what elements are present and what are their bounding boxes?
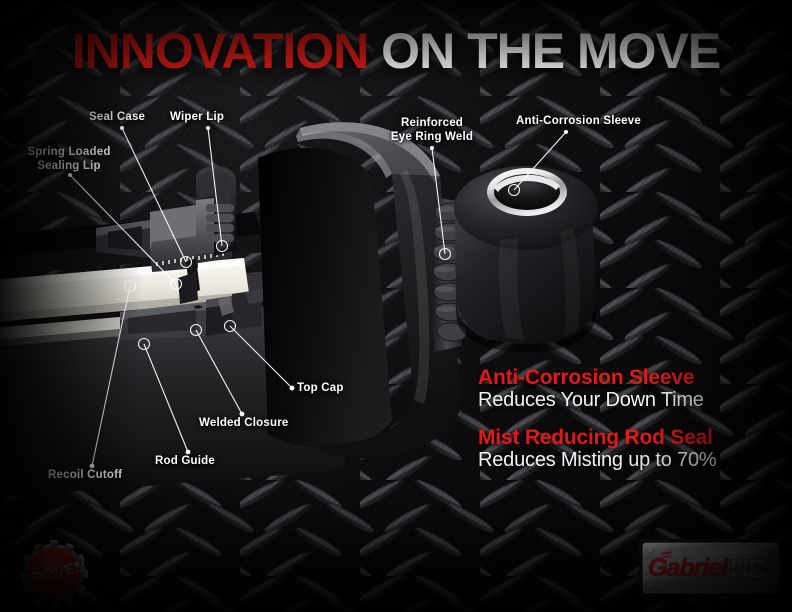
callout-label-anti-corrosion-sleeve: Anti-Corrosion Sleeve [516,114,641,128]
callout-label-spring-loaded-sealing-lip: Spring Loaded Sealing Lip [14,145,124,174]
gabriel-wordmark: Gabriel [648,551,729,582]
callout-line-1: Reinforced [378,116,486,130]
feature-anti-corrosion-sleeve: Anti-Corrosion Sleeve Reduces Your Down … [478,366,704,412]
callout-line-2: Eye Ring Weld [378,130,486,144]
callout-label-rod-guide: Rod Guide [155,454,215,468]
feature-heading: Mist Reducing Rod Seal [478,426,716,449]
callout-label-seal-case: Seal Case [89,110,145,124]
callout-line-2: Sealing Lip [14,159,124,173]
gabriel-hd-logo-plate: Gabriel HD [638,538,784,598]
callout-label-wiper-lip: Wiper Lip [170,110,224,124]
shock-absorber-illustration [0,0,792,612]
feature-subtext: Reduces Misting up to 70% [478,449,716,472]
eye-ring-bushing [454,166,598,352]
poster-canvas: INNOVATION ON THE MOVE [0,0,792,612]
gabriel-text: Gabriel [648,554,729,582]
hd-wordmark: HD [730,554,767,584]
callout-line-1: Spring Loaded [14,145,124,159]
callout-label-reinforced-eye-ring-weld: Reinforced Eye Ring Weld [378,116,486,145]
feature-mist-reducing-rod-seal: Mist Reducing Rod Seal Reduces Misting u… [478,426,716,472]
callout-label-welded-closure: Welded Closure [199,416,289,430]
feature-heading: Anti-Corrosion Sleeve [478,366,704,389]
callout-label-top-cap: Top Cap [297,381,344,395]
proven-badge: PROVEN [14,536,98,608]
hd-text: HD [730,554,767,584]
anti-corrosion-sleeve-cutaway [258,122,462,458]
callout-label-recoil-cutoff: Recoil Cutoff [48,468,122,482]
feature-subtext: Reduces Your Down Time [478,389,704,412]
